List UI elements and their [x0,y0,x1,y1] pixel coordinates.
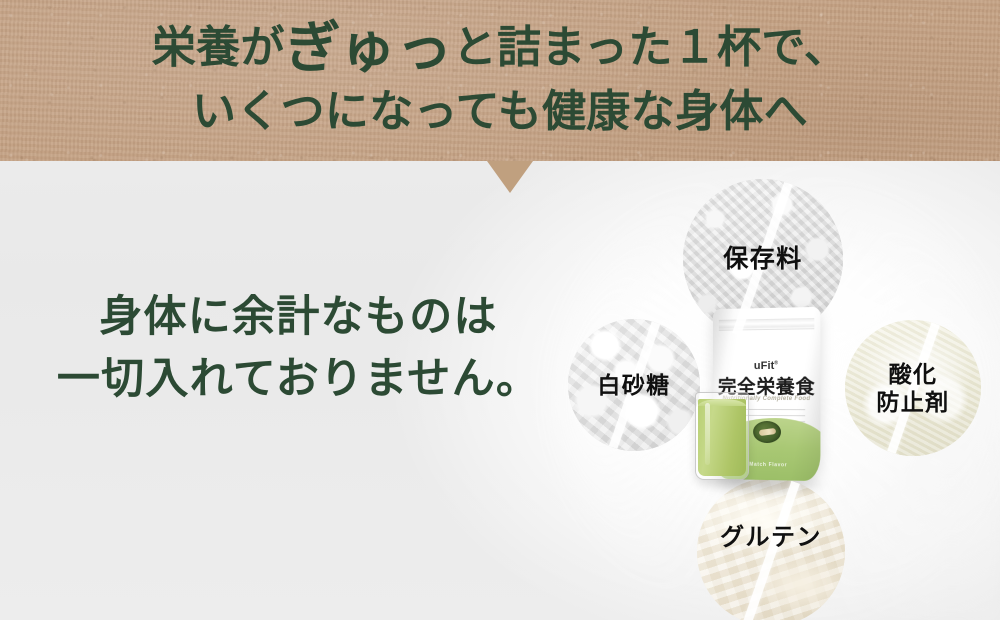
kraft-band-pointer [487,161,533,193]
ingredient-circle-sanka: 酸化 防止剤 [845,320,981,456]
ingredient-circle-shirozato: 白砂糖 [568,319,700,451]
ingredient-label-sanka: 酸化 防止剤 [876,360,949,416]
headline-line-2: いくつになっても健康な身体へ [0,88,1000,136]
kraft-header-band: 栄養がぎゅっと詰まった１杯で、 いくつになっても健康な身体へ [0,0,1000,161]
headline-line-1-after: と詰まった１杯で、 [453,23,848,72]
ingredient-label-gluten: グルテン [720,523,822,552]
matcha-whisk-icon [753,421,781,443]
product-brand-text: uFit [754,360,774,372]
headline: 栄養がぎゅっと詰まった１杯で、 いくつになっても健康な身体へ [0,18,1000,136]
product-shot: uFit® 完全栄養食 Nutritionally Complete Food … [690,300,840,500]
lead-line-2: 一切入れておりません。 [26,348,571,410]
drink-glass [695,392,749,480]
ingredient-label-hozonryo: 保存料 [723,244,803,275]
promo-banner: 栄養がぎゅっと詰まった１杯で、 いくつになっても健康な身体へ 身体に余計なものは… [0,0,1000,620]
ingredient-label-shirozato: 白砂糖 [597,371,670,399]
product-brand: uFit® [713,360,820,373]
glass-highlight [705,403,710,465]
headline-emphasis: ぎゅっ [285,16,453,79]
lead-copy: 身体に余計なものは 一切入れておりません。 [26,286,571,411]
lead-line-1: 身体に余計なものは [26,286,571,348]
registered-mark-icon: ® [774,360,778,366]
headline-line-1: 栄養がぎゅっと詰まった１杯で、 [0,18,1000,78]
headline-line-1-before: 栄養が [152,23,285,72]
